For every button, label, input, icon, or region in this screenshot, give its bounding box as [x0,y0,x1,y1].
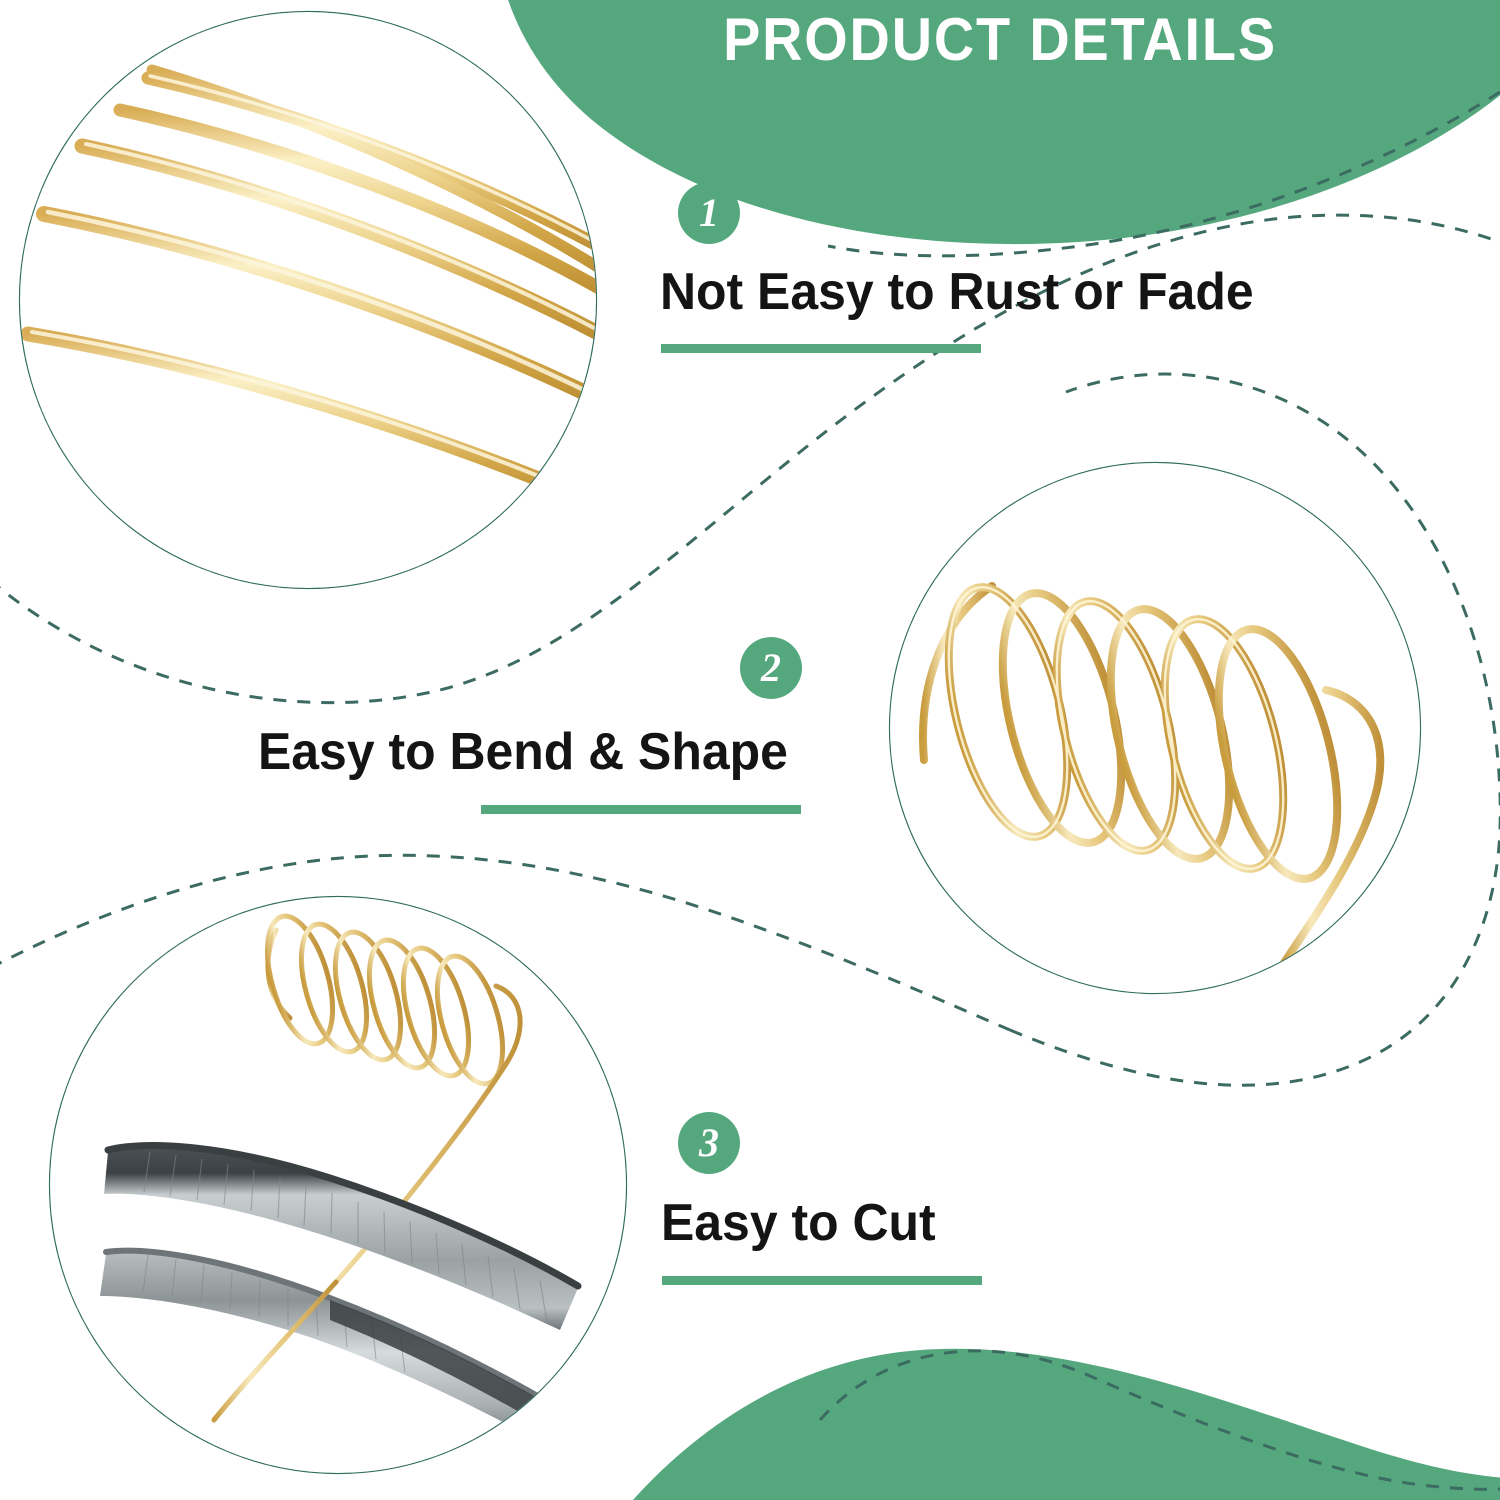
feature-number-badge-1: 1 [678,182,740,244]
scissors-cutting-wire-photo [48,895,630,1477]
gold-wire-strands-photo [18,10,612,592]
feature-underline-1 [661,344,981,353]
feature-title-1: Not Easy to Rust or Fade [660,262,1254,322]
feature-title-2: Easy to Bend & Shape [258,722,788,782]
feature-number-badge-2: 2 [740,637,802,699]
feature-number-badge-3: 3 [678,1112,740,1174]
feature-underline-3 [662,1276,982,1285]
gold-wire-coil-photo [880,455,1430,1005]
feature-title-3: Easy to Cut [661,1193,936,1253]
feature-underline-2 [481,805,801,814]
product-details-infographic: PRODUCT DETAILS 1 Not Easy to Rust or Fa… [0,0,1500,1500]
